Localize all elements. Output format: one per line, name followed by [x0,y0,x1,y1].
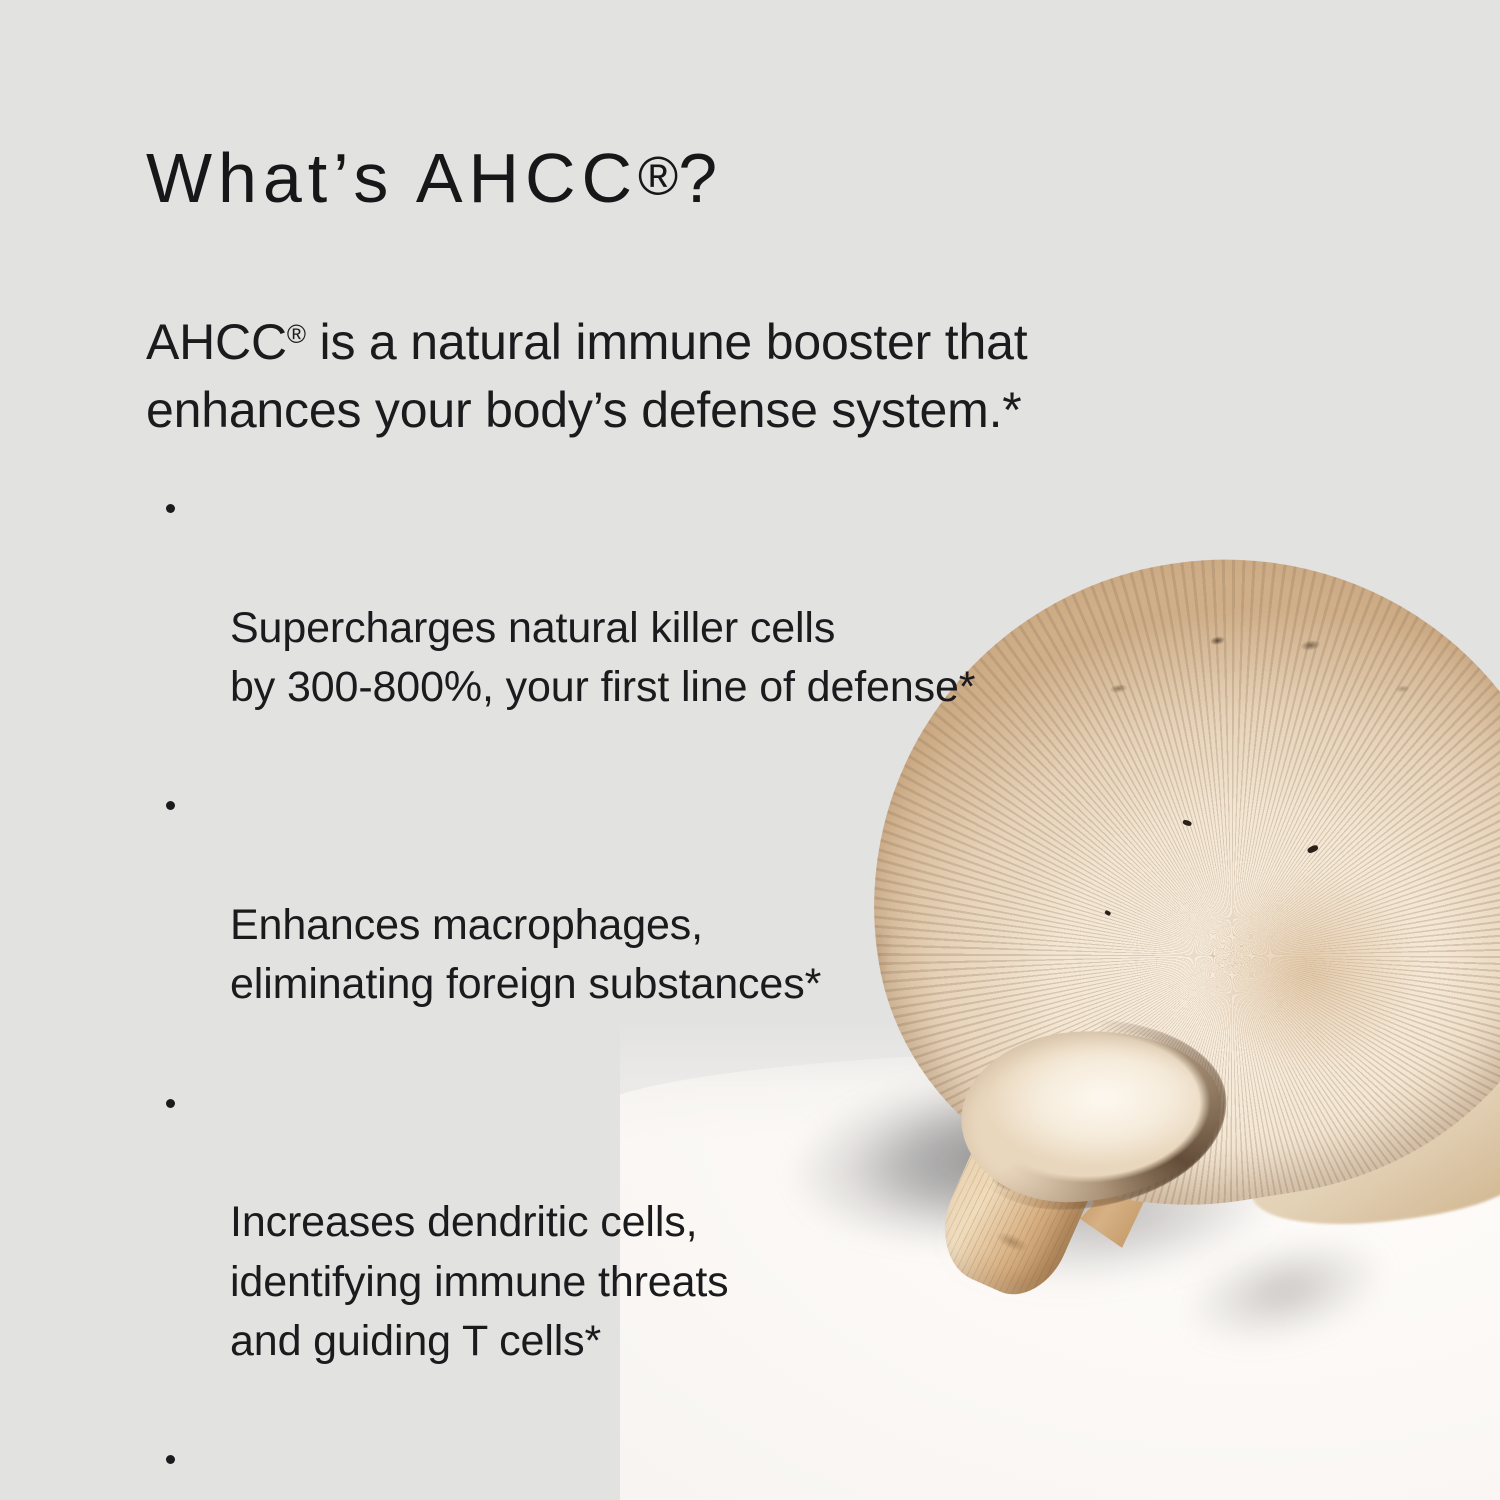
subheading-brand: AHCC [146,314,287,370]
bullet-icon [166,801,175,810]
list-item: Increases dendritic cells, identifying i… [146,1075,1146,1372]
list-item: Boosts T cell count, eliminating known i… [146,1431,1146,1500]
subheading: AHCC® is a natural immune booster that e… [146,308,1256,444]
list-item: Enhances macrophages, eliminating foreig… [146,777,1146,1014]
infographic-canvas: What’s AHCC®? AHCC® is a natural immune … [0,0,1500,1500]
bullet-icon [166,504,175,513]
page-title: What’s AHCC®? [146,143,723,213]
page-title-text: What’s AHCC [146,139,638,217]
registered-trademark-icon: ® [287,319,306,349]
list-item-label: Increases dendritic cells, identifying i… [230,1198,729,1365]
list-item: Supercharges natural killer cells by 300… [146,480,1146,717]
page-title-suffix: ? [678,139,723,217]
list-item-label: Enhances macrophages, eliminating foreig… [230,901,821,1008]
bullet-icon [166,1455,175,1464]
benefits-list: Supercharges natural killer cells by 300… [146,480,1146,1500]
bullet-icon [166,1099,175,1108]
registered-trademark-icon: ® [638,145,678,206]
list-item-label: Supercharges natural killer cells by 300… [230,604,975,711]
